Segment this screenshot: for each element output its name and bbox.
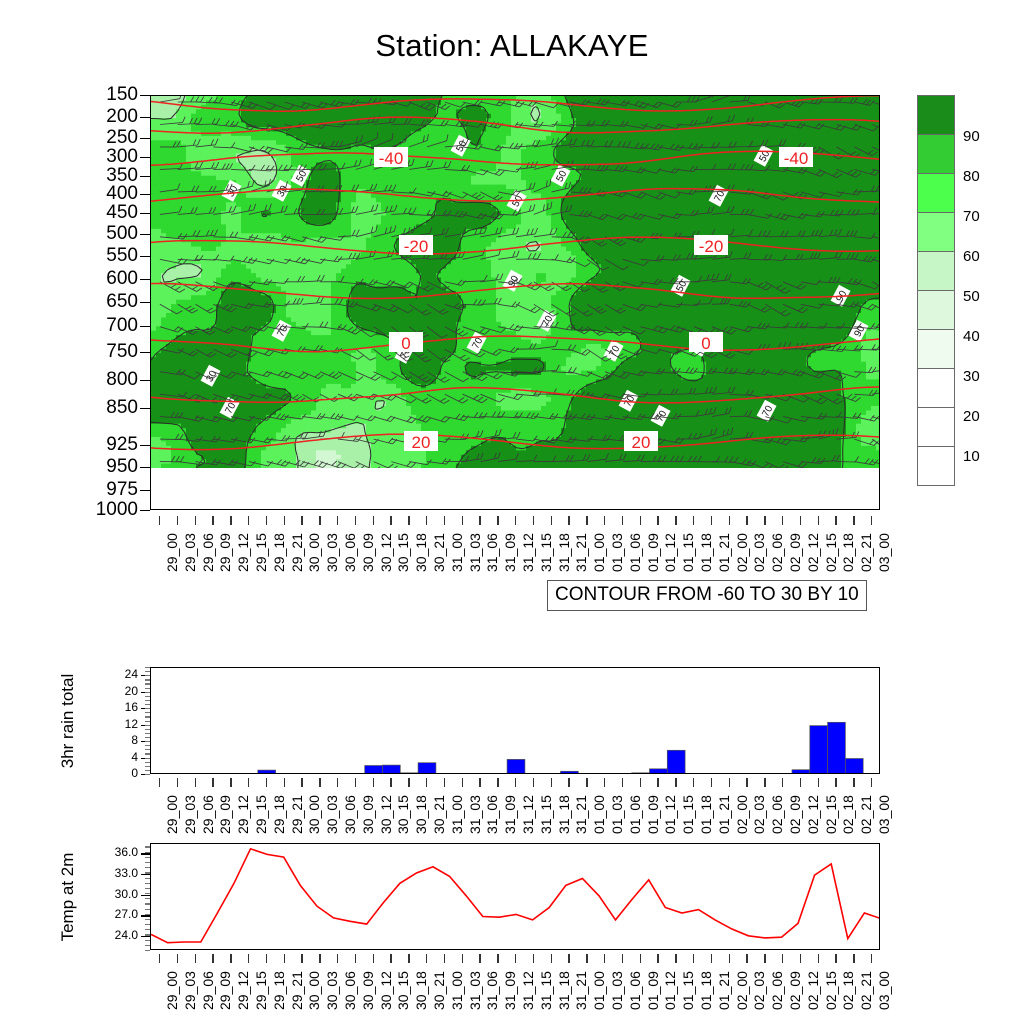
xaxis-tick-label: 02_09	[787, 795, 803, 834]
rain-bar-chart[interactable]	[150, 667, 880, 774]
xaxis-tick-label: 02_00	[734, 533, 750, 572]
xaxis-tick-mark	[355, 954, 356, 963]
rain-ytick-label: 12	[98, 718, 138, 730]
xaxis-tick-label: 01_06	[627, 971, 643, 1010]
xaxis-tick-mark	[408, 778, 409, 787]
rain-bar	[810, 726, 828, 774]
xaxis-tick-mark	[390, 516, 391, 525]
xaxis-tick-mark	[800, 954, 801, 963]
main-ytick-mark	[140, 445, 150, 446]
xaxis-tick-mark	[586, 778, 587, 787]
xaxis-tick-mark	[479, 778, 480, 787]
xaxis-tick-label: 02_03	[751, 533, 767, 572]
xaxis-tick-label: 31_21	[573, 971, 589, 1010]
xaxis-tick-mark	[408, 516, 409, 525]
colorbar-tick-label: 60	[963, 249, 980, 264]
xaxis-tick-mark	[764, 516, 765, 525]
main-ytick-mark	[140, 117, 150, 118]
xaxis-tick-label: 29_18	[271, 533, 287, 572]
xaxis-tick-label: 30_09	[360, 795, 376, 834]
xaxis-tick-mark	[729, 516, 730, 525]
xaxis-tick-mark	[764, 778, 765, 787]
xaxis-tick-mark	[640, 954, 641, 963]
xaxis-tick-mark	[284, 954, 285, 963]
xaxis-tick-label: 01_09	[645, 971, 661, 1010]
xaxis-tick-label: 29_09	[217, 533, 233, 572]
main-ytick-mark	[140, 326, 150, 327]
xaxis-tick-mark	[533, 516, 534, 525]
rain-ytick-label: 4	[98, 751, 138, 763]
xaxis-tick-mark	[782, 516, 783, 525]
rain-svg	[151, 668, 880, 774]
colorbar-tick-label: 70	[963, 209, 980, 224]
xaxis-tick-mark	[248, 954, 249, 963]
xaxis-tick-label: 29_03	[182, 971, 198, 1010]
colorbar-tick-label: 80	[963, 169, 980, 184]
colorbar-band	[917, 95, 955, 135]
xaxis-tick-label: 01_09	[645, 795, 661, 834]
colorbar-tick-label: 10	[963, 449, 980, 464]
xaxis-tick-mark	[746, 516, 747, 525]
main-ytick-mark	[140, 95, 150, 96]
xaxis-tick-label: 30_12	[378, 795, 394, 834]
xaxis-tick-label: 01_12	[662, 533, 678, 572]
colorbar-tick-label: 50	[963, 289, 980, 304]
xaxis-tick-mark	[551, 954, 552, 963]
xaxis-tick-mark	[818, 778, 819, 787]
xaxis-tick-mark	[800, 778, 801, 787]
main-ytick-label: 700	[28, 316, 138, 335]
main-ytick-mark	[140, 234, 150, 235]
xaxis-tick-mark	[373, 516, 374, 525]
xaxis-tick-label: 31_09	[502, 795, 518, 834]
xaxis-tick-mark	[337, 516, 338, 525]
xaxis-tick-mark	[426, 954, 427, 963]
xaxis-tick-label: 31_15	[538, 795, 554, 834]
main-xaxis-labels: 29_0029_0329_0629_0929_1229_1529_1829_21…	[150, 516, 880, 578]
xaxis-tick-mark	[266, 954, 267, 963]
xaxis-tick-mark	[657, 516, 658, 525]
xaxis-tick-label: 31_00	[449, 971, 465, 1010]
xaxis-tick-mark	[746, 778, 747, 787]
xaxis-tick-mark	[515, 778, 516, 787]
xaxis-tick-label: 30_09	[360, 533, 376, 572]
xaxis-tick-mark	[622, 954, 623, 963]
xaxis-tick-mark	[444, 954, 445, 963]
xaxis-tick-mark	[212, 954, 213, 963]
xaxis-tick-mark	[604, 516, 605, 525]
xaxis-tick-mark	[248, 778, 249, 787]
xaxis-tick-label: 02_21	[858, 533, 874, 572]
xaxis-tick-label: 29_03	[182, 795, 198, 834]
xaxis-tick-label: 31_12	[520, 533, 536, 572]
xaxis-tick-label: 30_09	[360, 971, 376, 1010]
xaxis-tick-label: 02_09	[787, 533, 803, 572]
xaxis-tick-label: 31_00	[449, 795, 465, 834]
xaxis-tick-label: 30_21	[431, 795, 447, 834]
temp-ytick-mark	[141, 915, 150, 916]
xaxis-tick-label: 01_15	[680, 533, 696, 572]
xaxis-tick-label: 30_18	[413, 795, 429, 834]
main-ytick-mark	[140, 213, 150, 214]
rain-bar	[632, 773, 650, 774]
xaxis-tick-label: 02_00	[734, 795, 750, 834]
rain-bar	[258, 770, 276, 774]
xaxis-tick-mark	[551, 778, 552, 787]
xaxis-tick-label: 02_15	[823, 795, 839, 834]
xaxis-tick-label: 01_15	[680, 971, 696, 1010]
xaxis-tick-mark	[729, 778, 730, 787]
xaxis-tick-mark	[568, 516, 569, 525]
xaxis-tick-label: 29_00	[164, 971, 180, 1010]
main-ytick-mark	[140, 279, 150, 280]
xaxis-tick-label: 01_00	[591, 795, 607, 834]
xaxis-tick-label: 02_18	[840, 795, 856, 834]
xaxis-tick-mark	[586, 516, 587, 525]
xaxis-tick-label: 29_00	[164, 533, 180, 572]
xaxis-tick-label: 29_09	[217, 971, 233, 1010]
xaxis-tick-label: 29_15	[253, 971, 269, 1010]
colorbar-tick-label: 30	[963, 369, 980, 384]
xaxis-tick-label: 30_00	[306, 533, 322, 572]
temp-minor-tick	[145, 950, 150, 951]
xaxis-tick-mark	[195, 954, 196, 963]
xaxis-tick-label: 30_18	[413, 533, 429, 572]
xaxis-tick-label: 03_00	[876, 971, 892, 1010]
xaxis-tick-mark	[444, 516, 445, 525]
xaxis-tick-mark	[871, 516, 872, 525]
rain-bar	[828, 722, 846, 774]
temp-ytick-label: 36.0	[92, 846, 138, 858]
colorbar-band	[917, 329, 955, 369]
xaxis-tick-mark	[479, 954, 480, 963]
xaxis-tick-mark	[746, 954, 747, 963]
xaxis-tick-label: 01_03	[609, 971, 625, 1010]
rain-bar	[507, 759, 525, 774]
xaxis-tick-label: 31_06	[484, 533, 500, 572]
main-ytick-mark	[140, 408, 150, 409]
main-ytick-label: 650	[28, 292, 138, 311]
xaxis-tick-mark	[818, 516, 819, 525]
colorbar-tick-label: 90	[963, 129, 980, 144]
xaxis-tick-mark	[479, 516, 480, 525]
xaxis-tick-label: 29_21	[289, 971, 305, 1010]
xaxis-tick-label: 29_00	[164, 795, 180, 834]
xaxis-tick-mark	[390, 954, 391, 963]
xaxis-tick-mark	[177, 778, 178, 787]
main-ytick-label: 600	[28, 269, 138, 288]
xaxis-tick-label: 30_06	[342, 971, 358, 1010]
xaxis-tick-mark	[390, 778, 391, 787]
xaxis-tick-label: 02_06	[769, 971, 785, 1010]
xaxis-tick-mark	[497, 516, 498, 525]
main-ytick-mark	[140, 510, 150, 511]
xaxis-tick-mark	[355, 516, 356, 525]
xaxis-tick-mark	[675, 778, 676, 787]
rain-ytick-label: 0	[98, 767, 138, 779]
temp-ytick-label: 33.0	[92, 867, 138, 879]
xaxis-tick-mark	[301, 954, 302, 963]
chart-page: Station: ALLAKAYE Pressure (hPa) 1502002…	[0, 0, 1024, 1024]
rain-bar	[383, 765, 401, 774]
xaxis-tick-label: 30_06	[342, 533, 358, 572]
xaxis-tick-mark	[693, 778, 694, 787]
xaxis-tick-mark	[444, 778, 445, 787]
xaxis-tick-label: 30_06	[342, 795, 358, 834]
xaxis-tick-mark	[533, 954, 534, 963]
xaxis-tick-mark	[729, 954, 730, 963]
xaxis-tick-label: 01_15	[680, 795, 696, 834]
temp-ytick-label: 27.0	[92, 908, 138, 920]
xaxis-tick-mark	[782, 778, 783, 787]
xaxis-tick-mark	[284, 778, 285, 787]
main-ytick-mark	[140, 380, 150, 381]
xaxis-tick-label: 02_15	[823, 533, 839, 572]
xaxis-tick-mark	[711, 954, 712, 963]
xaxis-tick-mark	[693, 516, 694, 525]
rain-bar	[650, 769, 668, 774]
xaxis-tick-label: 30_18	[413, 971, 429, 1010]
rain-bar	[845, 759, 863, 775]
colorbar-tick-label: 40	[963, 329, 980, 344]
xaxis-tick-label: 01_00	[591, 533, 607, 572]
xaxis-tick-mark	[319, 516, 320, 525]
temp-ytick-mark	[141, 895, 150, 896]
xaxis-tick-label: 30_21	[431, 533, 447, 572]
xaxis-tick-mark	[622, 516, 623, 525]
xaxis-tick-label: 31_21	[573, 795, 589, 834]
xaxis-tick-mark	[764, 954, 765, 963]
xaxis-tick-mark	[355, 778, 356, 787]
xaxis-tick-label: 30_03	[324, 971, 340, 1010]
xaxis-tick-mark	[319, 778, 320, 787]
xaxis-tick-label: 02_12	[805, 533, 821, 572]
xaxis-tick-label: 02_03	[751, 795, 767, 834]
xaxis-tick-mark	[782, 954, 783, 963]
colorbar-band	[917, 407, 955, 447]
colorbar[interactable]: 908070605040302010	[917, 96, 955, 486]
xaxis-tick-mark	[586, 954, 587, 963]
xaxis-tick-label: 01_18	[698, 795, 714, 834]
xaxis-tick-mark	[675, 516, 676, 525]
xaxis-tick-mark	[640, 516, 641, 525]
rain-ylabel: 3hr rain total	[58, 655, 84, 787]
main-ytick-label: 925	[28, 435, 138, 454]
xaxis-tick-label: 02_12	[805, 971, 821, 1010]
xaxis-tick-label: 31_18	[556, 795, 572, 834]
xaxis-tick-mark	[248, 516, 249, 525]
xaxis-tick-label: 29_15	[253, 533, 269, 572]
xaxis-tick-mark	[159, 954, 160, 963]
xaxis-tick-label: 01_09	[645, 533, 661, 572]
sounding-svg: 3030305050505070707070707070909090705070…	[151, 96, 880, 510]
xaxis-tick-mark	[853, 778, 854, 787]
rain-xaxis-labels: 29_0029_0329_0629_0929_1229_1529_1829_21…	[150, 778, 880, 840]
xaxis-tick-label: 01_00	[591, 971, 607, 1010]
rain-bar	[667, 750, 685, 774]
xaxis-tick-mark	[319, 954, 320, 963]
xaxis-tick-mark	[657, 778, 658, 787]
xaxis-tick-label: 29_09	[217, 795, 233, 834]
xaxis-tick-mark	[853, 516, 854, 525]
xaxis-tick-label: 02_09	[787, 971, 803, 1010]
main-ytick-label: 300	[28, 147, 138, 166]
xaxis-tick-mark	[835, 778, 836, 787]
xaxis-tick-label: 01_03	[609, 533, 625, 572]
xaxis-tick-label: 29_18	[271, 971, 287, 1010]
xaxis-tick-label: 31_00	[449, 533, 465, 572]
xaxis-tick-label: 02_21	[858, 795, 874, 834]
xaxis-tick-mark	[266, 516, 267, 525]
xaxis-tick-mark	[497, 954, 498, 963]
main-ytick-mark	[140, 467, 150, 468]
main-ytick-label: 250	[28, 128, 138, 147]
xaxis-tick-mark	[675, 954, 676, 963]
main-ytick-label: 350	[28, 166, 138, 185]
xaxis-tick-mark	[711, 778, 712, 787]
xaxis-tick-mark	[337, 954, 338, 963]
xaxis-tick-label: 01_18	[698, 971, 714, 1010]
temp-ytick-mark	[141, 936, 150, 937]
main-ytick-label: 500	[28, 224, 138, 243]
colorbar-band	[917, 173, 955, 213]
xaxis-tick-label: 31_12	[520, 795, 536, 834]
xaxis-tick-mark	[462, 778, 463, 787]
colorbar-band	[917, 290, 955, 330]
xaxis-tick-label: 31_06	[484, 971, 500, 1010]
temp-ytick-mark	[141, 853, 150, 854]
xaxis-tick-mark	[515, 954, 516, 963]
temp-ytick-mark	[141, 874, 150, 875]
main-ytick-mark	[140, 194, 150, 195]
xaxis-tick-mark	[177, 954, 178, 963]
xaxis-tick-label: 31_03	[467, 795, 483, 834]
xaxis-tick-label: 31_15	[538, 971, 554, 1010]
main-ytick-mark	[140, 302, 150, 303]
xaxis-tick-mark	[515, 516, 516, 525]
xaxis-tick-label: 31_09	[502, 971, 518, 1010]
main-ytick-mark	[140, 138, 150, 139]
xaxis-tick-mark	[604, 954, 605, 963]
xaxis-tick-label: 02_03	[751, 971, 767, 1010]
rain-ytick-label: 20	[98, 685, 138, 697]
xaxis-tick-mark	[266, 778, 267, 787]
main-ytick-label: 550	[28, 246, 138, 265]
xaxis-tick-label: 31_15	[538, 533, 554, 572]
colorbar-band	[917, 446, 955, 486]
colorbar-band	[917, 251, 955, 291]
xaxis-tick-label: 03_00	[876, 795, 892, 834]
sounding-time-section-plot[interactable]: 3030305050505070707070707070909090705070…	[150, 95, 880, 510]
rain-ytick-label: 8	[98, 734, 138, 746]
xaxis-tick-mark	[622, 778, 623, 787]
xaxis-tick-label: 02_18	[840, 533, 856, 572]
main-ytick-mark	[140, 176, 150, 177]
main-ytick-mark	[140, 490, 150, 491]
xaxis-tick-label: 31_18	[556, 533, 572, 572]
xaxis-tick-mark	[284, 516, 285, 525]
xaxis-tick-label: 01_21	[716, 795, 732, 834]
xaxis-tick-label: 02_21	[858, 971, 874, 1010]
xaxis-tick-mark	[373, 954, 374, 963]
contour-legend-note: CONTOUR FROM -60 TO 30 BY 10	[547, 580, 867, 611]
xaxis-tick-mark	[230, 516, 231, 525]
main-ytick-label: 150	[28, 85, 138, 104]
xaxis-tick-mark	[693, 954, 694, 963]
xaxis-tick-label: 01_12	[662, 971, 678, 1010]
xaxis-tick-label: 30_12	[378, 971, 394, 1010]
main-ytick-mark	[140, 256, 150, 257]
xaxis-tick-mark	[853, 954, 854, 963]
main-ytick-label: 400	[28, 184, 138, 203]
xaxis-tick-mark	[195, 516, 196, 525]
rain-ytick-label: 24	[98, 668, 138, 680]
main-ytick-label: 450	[28, 203, 138, 222]
xaxis-tick-label: 02_06	[769, 795, 785, 834]
temp-xaxis-labels: 29_0029_0329_0629_0929_1229_1529_1829_21…	[150, 954, 880, 1016]
xaxis-tick-mark	[551, 516, 552, 525]
xaxis-tick-label: 30_03	[324, 795, 340, 834]
rain-ytick-label: 16	[98, 701, 138, 713]
xaxis-tick-mark	[230, 954, 231, 963]
xaxis-tick-mark	[426, 778, 427, 787]
temp-ytick-label: 24.0	[92, 929, 138, 941]
colorbar-band	[917, 212, 955, 252]
xaxis-tick-mark	[230, 778, 231, 787]
xaxis-tick-label: 29_03	[182, 533, 198, 572]
xaxis-tick-label: 02_06	[769, 533, 785, 572]
xaxis-tick-mark	[462, 516, 463, 525]
rain-bar	[365, 766, 383, 775]
xaxis-tick-label: 30_15	[395, 795, 411, 834]
temperature-line-chart[interactable]	[150, 843, 880, 950]
xaxis-tick-mark	[533, 778, 534, 787]
xaxis-tick-mark	[373, 778, 374, 787]
main-ytick-label: 950	[28, 457, 138, 476]
xaxis-tick-mark	[818, 954, 819, 963]
main-ytick-label: 975	[28, 480, 138, 499]
xaxis-tick-label: 29_12	[235, 971, 251, 1010]
xaxis-tick-mark	[800, 516, 801, 525]
xaxis-tick-mark	[871, 778, 872, 787]
xaxis-tick-mark	[337, 778, 338, 787]
main-ytick-label: 200	[28, 107, 138, 126]
xaxis-tick-label: 01_06	[627, 795, 643, 834]
xaxis-tick-label: 31_09	[502, 533, 518, 572]
xaxis-tick-label: 30_15	[395, 533, 411, 572]
xaxis-tick-label: 30_12	[378, 533, 394, 572]
main-ytick-label: 750	[28, 342, 138, 361]
xaxis-tick-mark	[462, 954, 463, 963]
rain-bar	[561, 771, 579, 774]
xaxis-tick-mark	[657, 954, 658, 963]
xaxis-tick-mark	[568, 778, 569, 787]
main-ytick-mark	[140, 157, 150, 158]
xaxis-tick-mark	[159, 516, 160, 525]
xaxis-tick-label: 01_21	[716, 533, 732, 572]
xaxis-tick-label: 02_00	[734, 971, 750, 1010]
xaxis-tick-label: 31_18	[556, 971, 572, 1010]
xaxis-tick-mark	[604, 778, 605, 787]
xaxis-tick-label: 01_06	[627, 533, 643, 572]
xaxis-tick-label: 29_12	[235, 795, 251, 834]
xaxis-tick-mark	[159, 778, 160, 787]
xaxis-tick-mark	[212, 778, 213, 787]
xaxis-tick-label: 30_15	[395, 971, 411, 1010]
xaxis-tick-label: 29_06	[200, 533, 216, 572]
rain-bar	[792, 770, 810, 774]
main-ytick-label: 850	[28, 398, 138, 417]
